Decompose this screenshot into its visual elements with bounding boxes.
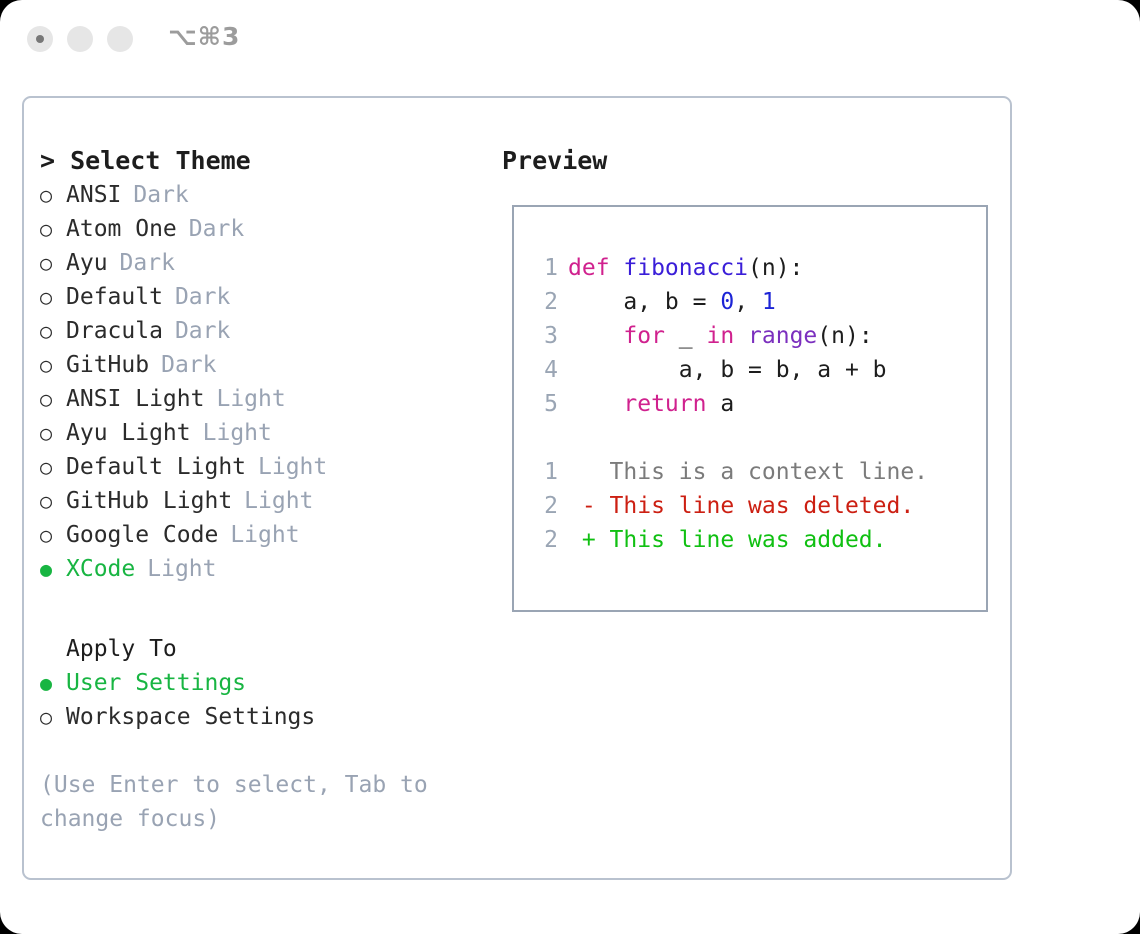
radio-unselected-icon: ○ bbox=[40, 518, 66, 552]
code-blank-line bbox=[530, 421, 978, 455]
theme-option-tag: Dark bbox=[175, 314, 230, 348]
diff-line-text: This is a context line. bbox=[568, 455, 928, 489]
code-token-plain bbox=[734, 323, 748, 349]
theme-option-ayu-light[interactable]: ○Ayu LightLight bbox=[40, 416, 490, 450]
code-line-text: def fibonacci(n): bbox=[568, 251, 803, 285]
code-token-kw: return bbox=[623, 391, 706, 417]
code-line: 2 a, b = 0, 1 bbox=[530, 285, 978, 319]
apply-to-list: ●User Settings○Workspace Settings bbox=[40, 666, 490, 734]
code-line-text: return a bbox=[568, 387, 734, 421]
code-line-number: 2 bbox=[530, 285, 558, 319]
radio-selected-icon: ● bbox=[40, 666, 66, 700]
title-bar: ⌥⌘3 bbox=[0, 0, 1140, 78]
code-line: 4 a, b = b, a + b bbox=[530, 353, 978, 387]
theme-option-label: Default bbox=[66, 280, 163, 314]
diff-line-add: 2 + This line was added. bbox=[530, 523, 978, 557]
diff-line-ctx: 1 This is a context line. bbox=[530, 455, 978, 489]
code-token-plain: (n): bbox=[748, 255, 803, 281]
theme-option-tag: Dark bbox=[161, 348, 216, 382]
theme-option-tag: Dark bbox=[189, 212, 244, 246]
radio-unselected-icon: ○ bbox=[40, 348, 66, 382]
theme-option-label: Google Code bbox=[66, 518, 218, 552]
code-token-plain bbox=[568, 323, 623, 349]
code-line-number: 5 bbox=[530, 387, 558, 421]
theme-option-label: Ayu Light bbox=[66, 416, 191, 450]
theme-option-label: Dracula bbox=[66, 314, 163, 348]
radio-unselected-icon: ○ bbox=[40, 416, 66, 450]
theme-option-github[interactable]: ○GitHubDark bbox=[40, 348, 490, 382]
app-window: ⌥⌘3 > Select Theme ○ANSIDark○Atom OneDar… bbox=[0, 0, 1140, 934]
theme-option-ansi[interactable]: ○ANSIDark bbox=[40, 178, 490, 212]
code-preview-body: 1def fibonacci(n):2 a, b = 0, 13 for _ i… bbox=[530, 251, 978, 557]
select-theme-heading: > Select Theme bbox=[40, 144, 490, 178]
code-line-text: for _ in range(n): bbox=[568, 319, 873, 353]
theme-option-label: Atom One bbox=[66, 212, 177, 246]
radio-unselected-icon: ○ bbox=[40, 280, 66, 314]
code-token-kw: def bbox=[568, 255, 623, 281]
code-line-number: 3 bbox=[530, 319, 558, 353]
theme-option-tag: Light bbox=[203, 416, 272, 450]
preview-heading: Preview bbox=[502, 144, 994, 178]
theme-option-tag: Dark bbox=[120, 246, 175, 280]
apply-to-option-user-settings[interactable]: ●User Settings bbox=[40, 666, 490, 700]
theme-option-ansi-light[interactable]: ○ANSI LightLight bbox=[40, 382, 490, 416]
theme-list: ○ANSIDark○Atom OneDark○AyuDark○DefaultDa… bbox=[40, 178, 490, 586]
code-line: 5 return a bbox=[530, 387, 978, 421]
theme-option-tag: Light bbox=[216, 382, 285, 416]
code-line: 1def fibonacci(n): bbox=[530, 251, 978, 285]
code-token-plain: (n): bbox=[817, 323, 872, 349]
code-line-number: 1 bbox=[530, 251, 558, 285]
traffic-light-maximize[interactable] bbox=[107, 26, 133, 52]
code-token-plain: a, b = b, a + b bbox=[568, 357, 887, 383]
theme-option-tag: Light bbox=[147, 552, 216, 586]
code-preview-panel: 1def fibonacci(n):2 a, b = 0, 13 for _ i… bbox=[512, 205, 988, 612]
radio-unselected-icon: ○ bbox=[40, 484, 66, 518]
code-line-text: a, b = b, a + b bbox=[568, 353, 887, 387]
theme-picker-column: > Select Theme ○ANSIDark○Atom OneDark○Ay… bbox=[40, 144, 490, 836]
code-token-num: 1 bbox=[762, 289, 776, 315]
apply-to-option-label: User Settings bbox=[66, 666, 246, 700]
apply-to-option-workspace-settings[interactable]: ○Workspace Settings bbox=[40, 700, 490, 734]
theme-option-ayu[interactable]: ○AyuDark bbox=[40, 246, 490, 280]
theme-option-label: Ayu bbox=[66, 246, 108, 280]
radio-unselected-icon: ○ bbox=[40, 382, 66, 416]
theme-option-tag: Light bbox=[230, 518, 299, 552]
theme-option-google-code[interactable]: ○Google CodeLight bbox=[40, 518, 490, 552]
main-panel: > Select Theme ○ANSIDark○Atom OneDark○Ay… bbox=[22, 96, 1012, 880]
keyboard-shortcut-label: ⌥⌘3 bbox=[168, 22, 240, 51]
apply-to-option-label: Workspace Settings bbox=[66, 700, 315, 734]
theme-option-label: Default Light bbox=[66, 450, 246, 484]
code-token-kw: in bbox=[706, 323, 734, 349]
theme-option-atom-one[interactable]: ○Atom OneDark bbox=[40, 212, 490, 246]
code-token-plain bbox=[568, 391, 623, 417]
code-line: 3 for _ in range(n): bbox=[530, 319, 978, 353]
preview-column: Preview 1def fibonacci(n):2 a, b = 0, 13… bbox=[502, 144, 994, 178]
radio-unselected-icon: ○ bbox=[40, 314, 66, 348]
traffic-light-close[interactable] bbox=[27, 26, 53, 52]
apply-to-heading: Apply To bbox=[40, 632, 490, 666]
theme-option-tag: Light bbox=[258, 450, 327, 484]
diff-line-number: 2 bbox=[530, 523, 558, 557]
code-token-plain: _ bbox=[665, 323, 707, 349]
keyboard-hint-text: (Use Enter to select, Tab to change focu… bbox=[40, 768, 450, 836]
theme-option-github-light[interactable]: ○GitHub LightLight bbox=[40, 484, 490, 518]
code-token-num: 0 bbox=[720, 289, 734, 315]
theme-option-tag: Light bbox=[244, 484, 313, 518]
theme-option-label: ANSI Light bbox=[66, 382, 204, 416]
radio-unselected-icon: ○ bbox=[40, 246, 66, 280]
traffic-light-minimize[interactable] bbox=[67, 26, 93, 52]
diff-line-text: - This line was deleted. bbox=[568, 489, 914, 523]
theme-option-tag: Dark bbox=[133, 178, 188, 212]
diff-line-number: 2 bbox=[530, 489, 558, 523]
theme-option-default-light[interactable]: ○Default LightLight bbox=[40, 450, 490, 484]
theme-option-dracula[interactable]: ○DraculaDark bbox=[40, 314, 490, 348]
code-token-plain: , bbox=[734, 289, 762, 315]
radio-unselected-icon: ○ bbox=[40, 212, 66, 246]
theme-option-label: GitHub Light bbox=[66, 484, 232, 518]
code-token-plain: a, b = bbox=[568, 289, 720, 315]
theme-option-tag: Dark bbox=[175, 280, 230, 314]
radio-unselected-icon: ○ bbox=[40, 700, 66, 734]
radio-unselected-icon: ○ bbox=[40, 178, 66, 212]
traffic-light-active-dot bbox=[36, 35, 44, 43]
theme-option-label: ANSI bbox=[66, 178, 121, 212]
code-line-text: a, b = 0, 1 bbox=[568, 285, 776, 319]
diff-line-number: 1 bbox=[530, 455, 558, 489]
apply-to-section: Apply To ●User Settings○Workspace Settin… bbox=[40, 632, 490, 734]
code-token-plain: a bbox=[706, 391, 734, 417]
code-token-call: range bbox=[748, 323, 817, 349]
code-token-kw: for bbox=[623, 323, 665, 349]
code-line-number: 4 bbox=[530, 353, 558, 387]
radio-unselected-icon: ○ bbox=[40, 450, 66, 484]
diff-line-del: 2 - This line was deleted. bbox=[530, 489, 978, 523]
theme-option-xcode[interactable]: ●XCodeLight bbox=[40, 552, 490, 586]
theme-option-label: XCode bbox=[66, 552, 135, 586]
code-token-fn: fibonacci bbox=[623, 255, 748, 281]
diff-line-text: + This line was added. bbox=[568, 523, 887, 557]
theme-option-default[interactable]: ○DefaultDark bbox=[40, 280, 490, 314]
radio-selected-icon: ● bbox=[40, 552, 66, 586]
theme-option-label: GitHub bbox=[66, 348, 149, 382]
